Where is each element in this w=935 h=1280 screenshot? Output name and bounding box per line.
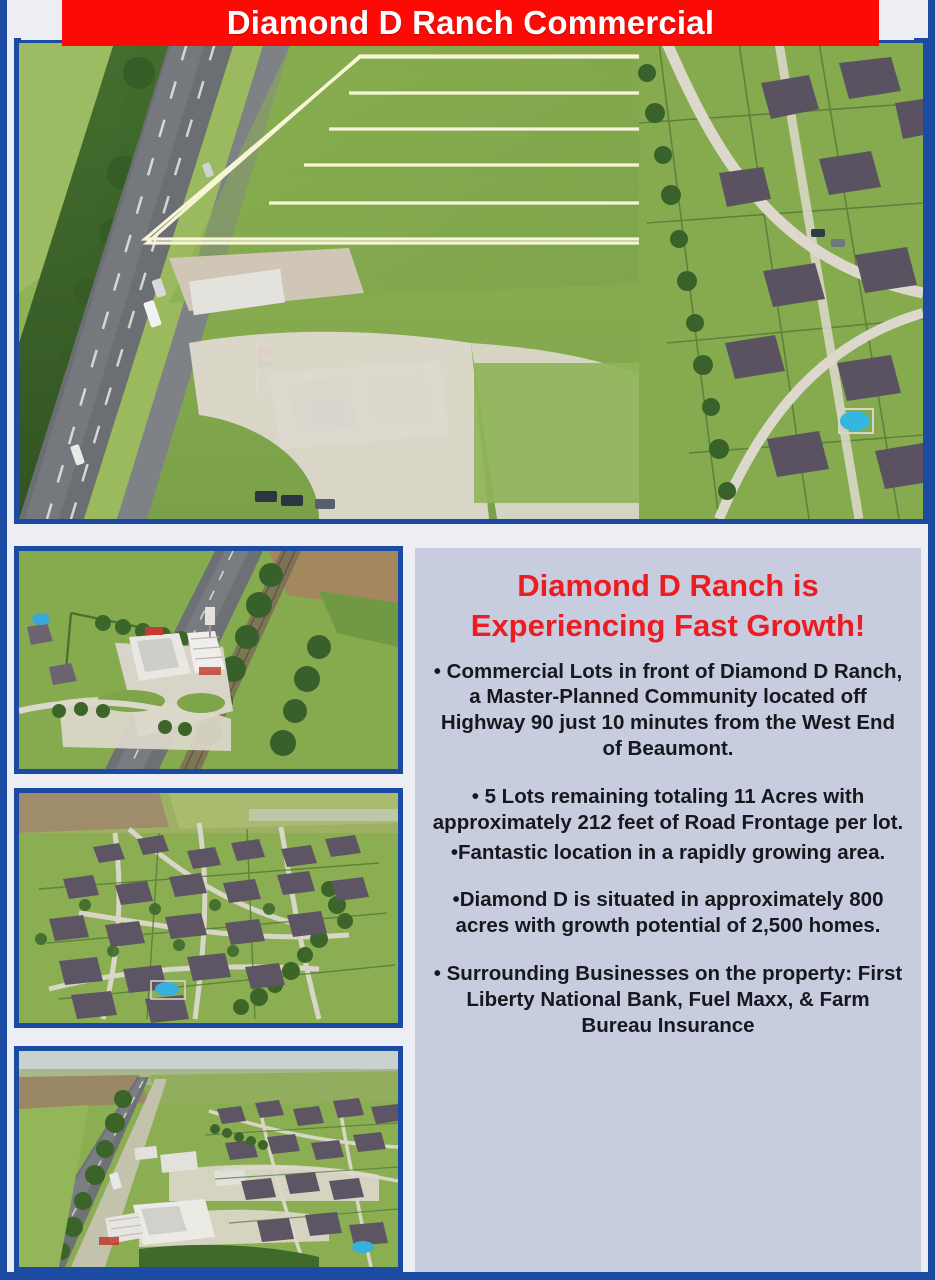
title-banner: Diamond D Ranch Commercial (62, 0, 879, 46)
panel-heading: Diamond D Ranch is Experiencing Fast Gro… (431, 566, 905, 647)
photo-convenience-store (19, 551, 398, 769)
bullet-fantastic-location: •Fantastic location in a rapidly growing… (431, 840, 905, 866)
info-panel: Diamond D Ranch is Experiencing Fast Gro… (415, 548, 921, 1272)
hero-photo (19, 43, 923, 519)
bullet-acreage-growth: •Diamond D is situated in approximately … (431, 887, 905, 939)
photo-frame-highway-corridor (14, 1046, 403, 1272)
photo-frame-subdivision (14, 788, 403, 1028)
flyer-page: Diamond D Ranch Commercial Diamond D Ran… (0, 0, 935, 1280)
bullet-surrounding-businesses: • Surrounding Businesses on the property… (431, 961, 905, 1038)
page-title: Diamond D Ranch Commercial (227, 4, 714, 42)
flyer-page-inner: Diamond D Ranch Commercial Diamond D Ran… (7, 0, 928, 1272)
bullet-commercial-lots: • Commercial Lots in front of Diamond D … (431, 659, 905, 762)
photo-frame-convenience-store (14, 546, 403, 774)
photo-subdivision (19, 793, 398, 1023)
photo-highway-corridor (19, 1051, 398, 1267)
hero-photo-frame (14, 38, 928, 524)
bullet-lots-remaining: • 5 Lots remaining totaling 11 Acres wit… (431, 784, 905, 836)
